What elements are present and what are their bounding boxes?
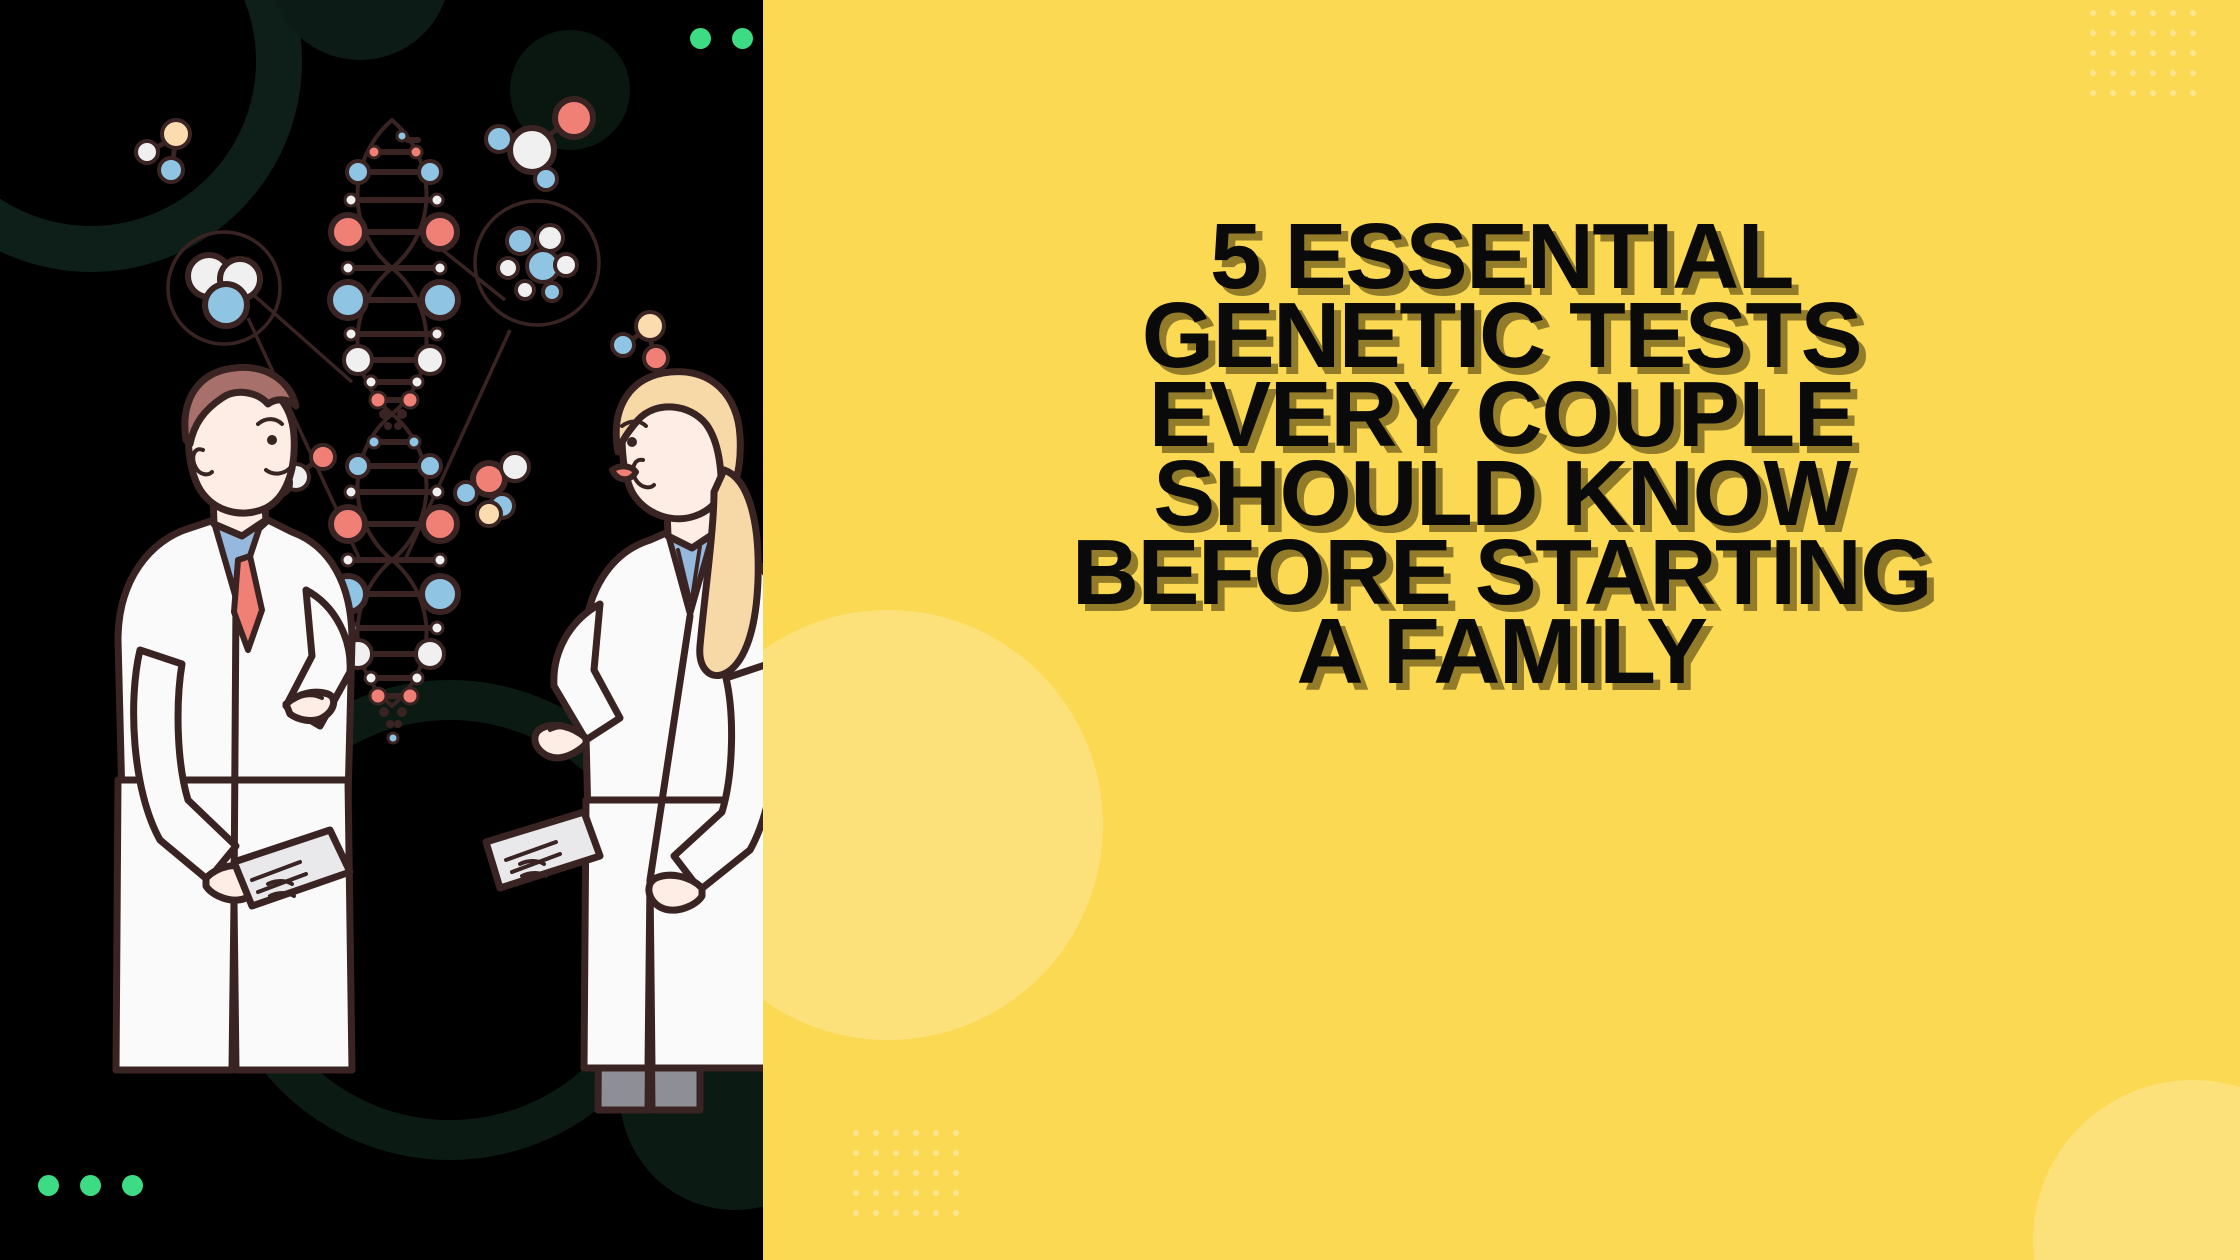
helix-rung	[368, 146, 422, 158]
helix-rung	[330, 282, 458, 318]
poster-canvas: .o{stroke:#3A2423;stroke-width:7;stroke-…	[0, 0, 2240, 1260]
molecule-cluster-right-lower	[455, 453, 529, 526]
illustration-panel: .o{stroke:#3A2423;stroke-width:7;stroke-…	[0, 0, 763, 1260]
helix-rung	[365, 672, 423, 684]
scientist-male	[116, 367, 352, 1070]
helix-rung	[331, 507, 457, 541]
helix-rung	[365, 376, 423, 388]
helix-rung	[397, 131, 418, 141]
molecule-cluster-topleft	[136, 120, 190, 182]
decor-dot-grid-bottom-left	[853, 1130, 973, 1230]
decor-soft-circle-bottom-right	[2033, 1080, 2240, 1260]
atom-callout-left	[168, 232, 280, 344]
atom-callout-right	[475, 201, 599, 325]
molecule-cluster-topright	[486, 99, 593, 190]
helix-rung	[368, 436, 420, 448]
headline-panel: 5 ESSENTIAL GENETIC TESTS EVERY COUPLE S…	[763, 0, 2240, 1260]
headline-line-6: A FAMILY	[803, 612, 2200, 691]
helix-rung	[370, 688, 418, 704]
decor-dot-grid-top-right	[2090, 10, 2210, 110]
page-title: 5 ESSENTIAL GENETIC TESTS EVERY COUPLE S…	[763, 217, 2240, 691]
helix-rung	[347, 455, 441, 477]
helix-rung	[331, 215, 457, 249]
helix-rung	[370, 392, 418, 408]
scientist-female	[486, 372, 763, 1110]
helix-rung	[344, 640, 444, 668]
molecule-cluster-right-mid	[612, 312, 668, 370]
helix-rung	[347, 161, 441, 183]
scientists-dna-illustration: .o{stroke:#3A2423;stroke-width:7;stroke-…	[0, 0, 763, 1260]
helix-rung	[344, 346, 444, 374]
